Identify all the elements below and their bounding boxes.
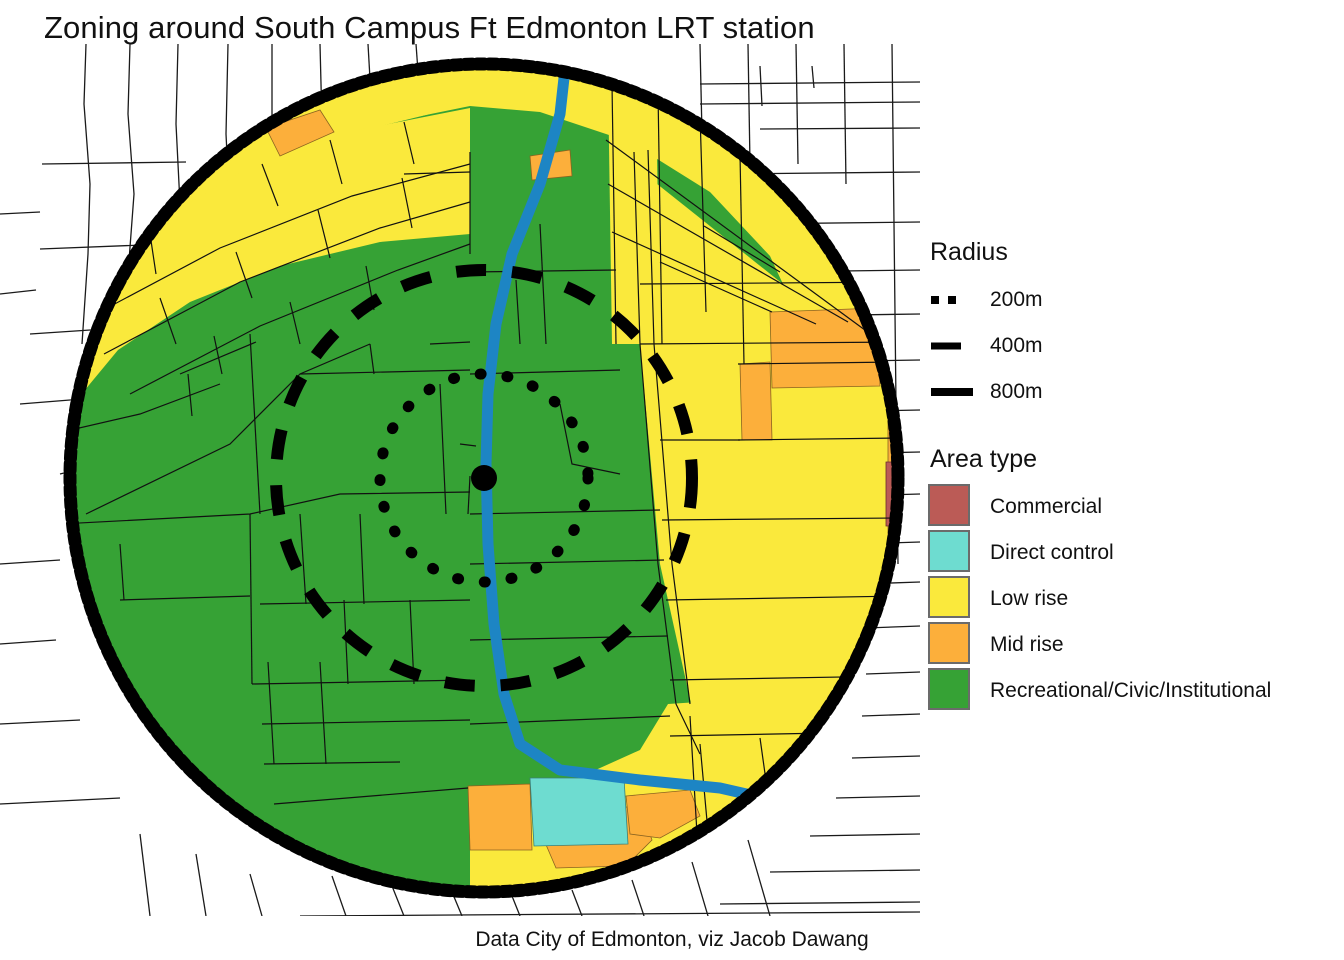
legend-label-radius-400m: 400m	[990, 334, 1043, 358]
legend-row-area-low-rise[interactable]: Low rise	[928, 576, 1344, 622]
color-swatch	[928, 484, 970, 526]
color-swatch	[928, 530, 970, 572]
swatch-mid-rise-icon	[928, 622, 990, 668]
legend-label-mid-rise: Mid rise	[990, 633, 1064, 657]
mid-rise-e4	[888, 650, 900, 720]
legend-row-radius-200m[interactable]: 200m	[928, 277, 1344, 323]
legend-panel: Radius 200m 400m 800m Area type Commerci…	[928, 238, 1344, 714]
legend-label-direct-control: Direct control	[990, 541, 1114, 565]
color-swatch	[928, 622, 970, 664]
page-title: Zoning around South Campus Ft Edmonton L…	[44, 10, 815, 46]
swatch-recreational-icon	[928, 668, 990, 714]
source-caption: Data City of Edmonton, viz Jacob Dawang	[0, 928, 1344, 952]
legend-row-radius-800m[interactable]: 800m	[928, 369, 1344, 415]
legend-row-radius-400m[interactable]: 400m	[928, 323, 1344, 369]
legend-title-radius: Radius	[930, 238, 1344, 267]
legend-row-area-commercial[interactable]: Commercial	[928, 484, 1344, 530]
legend-row-area-recreational[interactable]: Recreational/Civic/Institutional	[928, 668, 1344, 714]
radius-key-dotted-icon	[928, 277, 990, 323]
map-canvas[interactable]	[0, 44, 920, 916]
legend-label-recreational: Recreational/Civic/Institutional	[990, 679, 1271, 703]
legend-label-radius-800m: 800m	[990, 380, 1043, 404]
legend-row-area-mid-rise[interactable]: Mid rise	[928, 622, 1344, 668]
legend-label-low-rise: Low rise	[990, 587, 1068, 611]
map-svg[interactable]	[0, 44, 920, 916]
direct-control-parcel	[530, 778, 628, 846]
legend-label-radius-200m: 200m	[990, 288, 1043, 312]
mid-rise-e1	[740, 362, 772, 440]
legend-label-commercial: Commercial	[990, 495, 1102, 519]
color-swatch	[928, 576, 970, 618]
swatch-commercial-icon	[928, 484, 990, 530]
swatch-low-rise-icon	[928, 576, 990, 622]
swatch-direct-control-icon	[928, 530, 990, 576]
legend-title-area-type: Area type	[930, 445, 1344, 474]
legend-row-area-direct-control[interactable]: Direct control	[928, 530, 1344, 576]
mid-rise-s1	[468, 784, 532, 850]
radius-key-solid-icon	[928, 369, 990, 415]
station-center-point[interactable]	[471, 465, 497, 491]
radius-key-dashed-icon	[928, 323, 990, 369]
direct-control-areas	[530, 778, 628, 846]
color-swatch	[928, 668, 970, 710]
